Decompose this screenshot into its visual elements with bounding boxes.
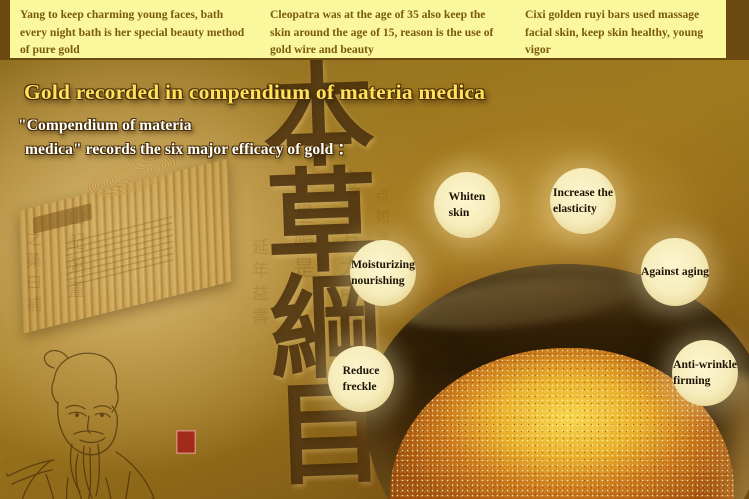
subtitle-line-1: "Compendium of materia xyxy=(18,114,353,138)
subtitle: "Compendium of materia medica" records t… xyxy=(18,114,353,162)
efficacy-line-2: nourishing xyxy=(351,273,415,289)
header-panel-cixi: Cixi golden ruyi bars used massage facia… xyxy=(515,0,726,58)
header-panel-yang-guifei: Yang to keep charming young faces, bath … xyxy=(10,0,260,58)
calligraphy-column-1: 之藥曰補 xyxy=(20,230,44,318)
header-panel-cleopatra: Cleopatra was at the age of 35 also keep… xyxy=(260,0,515,58)
header-panels: Yang to keep charming young faces, bath … xyxy=(10,0,726,58)
page-title: Gold recorded in compendium of materia m… xyxy=(24,80,485,105)
efficacy-line-2: firming xyxy=(673,373,737,389)
efficacy-line-1: Increase the xyxy=(553,185,613,201)
efficacy-bubble-against-aging[interactable]: Against aging xyxy=(641,238,709,306)
calligraphy-column-2: 山記粥蓋 xyxy=(62,208,88,304)
efficacy-line-1: Anti-wrinkle xyxy=(673,357,737,373)
efficacy-line-2: skin xyxy=(449,205,486,221)
efficacy-line-1: Reduce xyxy=(343,363,380,379)
efficacy-label-against-aging: Against aging xyxy=(641,264,709,280)
efficacy-bubble-anti-wrinkle-firming[interactable]: Anti-wrinkle firming xyxy=(672,340,738,406)
efficacy-bubble-increase-elasticity[interactable]: Increase the elasticity xyxy=(550,168,616,234)
efficacy-label-moisturizing-nourishing: Moisturizing nourishing xyxy=(351,257,415,289)
efficacy-line-1: Against aging xyxy=(641,264,709,280)
physician-ink-portrait xyxy=(6,328,206,499)
efficacy-bubble-whiten-skin[interactable]: Whiten skin xyxy=(434,172,500,238)
efficacy-label-reduce-freckle: Reduce freckle xyxy=(343,363,380,395)
efficacy-bubble-moisturizing-nourishing[interactable]: Moisturizing nourishing xyxy=(350,240,416,306)
poster-root: 之藥曰補 山記粥蓋 延年益壽 一星媚是 金之方大成方 点如清 本草綱目 xyxy=(0,0,749,499)
efficacy-line-2: elasticity xyxy=(553,201,613,217)
efficacy-label-anti-wrinkle-firming: Anti-wrinkle firming xyxy=(673,357,737,389)
efficacy-label-increase-elasticity: Increase the elasticity xyxy=(553,185,613,217)
efficacy-line-1: Moisturizing xyxy=(351,257,415,273)
header-strip: Yang to keep charming young faces, bath … xyxy=(0,0,749,60)
efficacy-bubble-reduce-freckle[interactable]: Reduce freckle xyxy=(328,346,394,412)
subtitle-line-2: medica" records the six major efficacy o… xyxy=(18,138,353,162)
efficacy-line-2: freckle xyxy=(343,379,380,395)
efficacy-label-whiten-skin: Whiten skin xyxy=(449,189,486,221)
efficacy-line-1: Whiten xyxy=(449,189,486,205)
